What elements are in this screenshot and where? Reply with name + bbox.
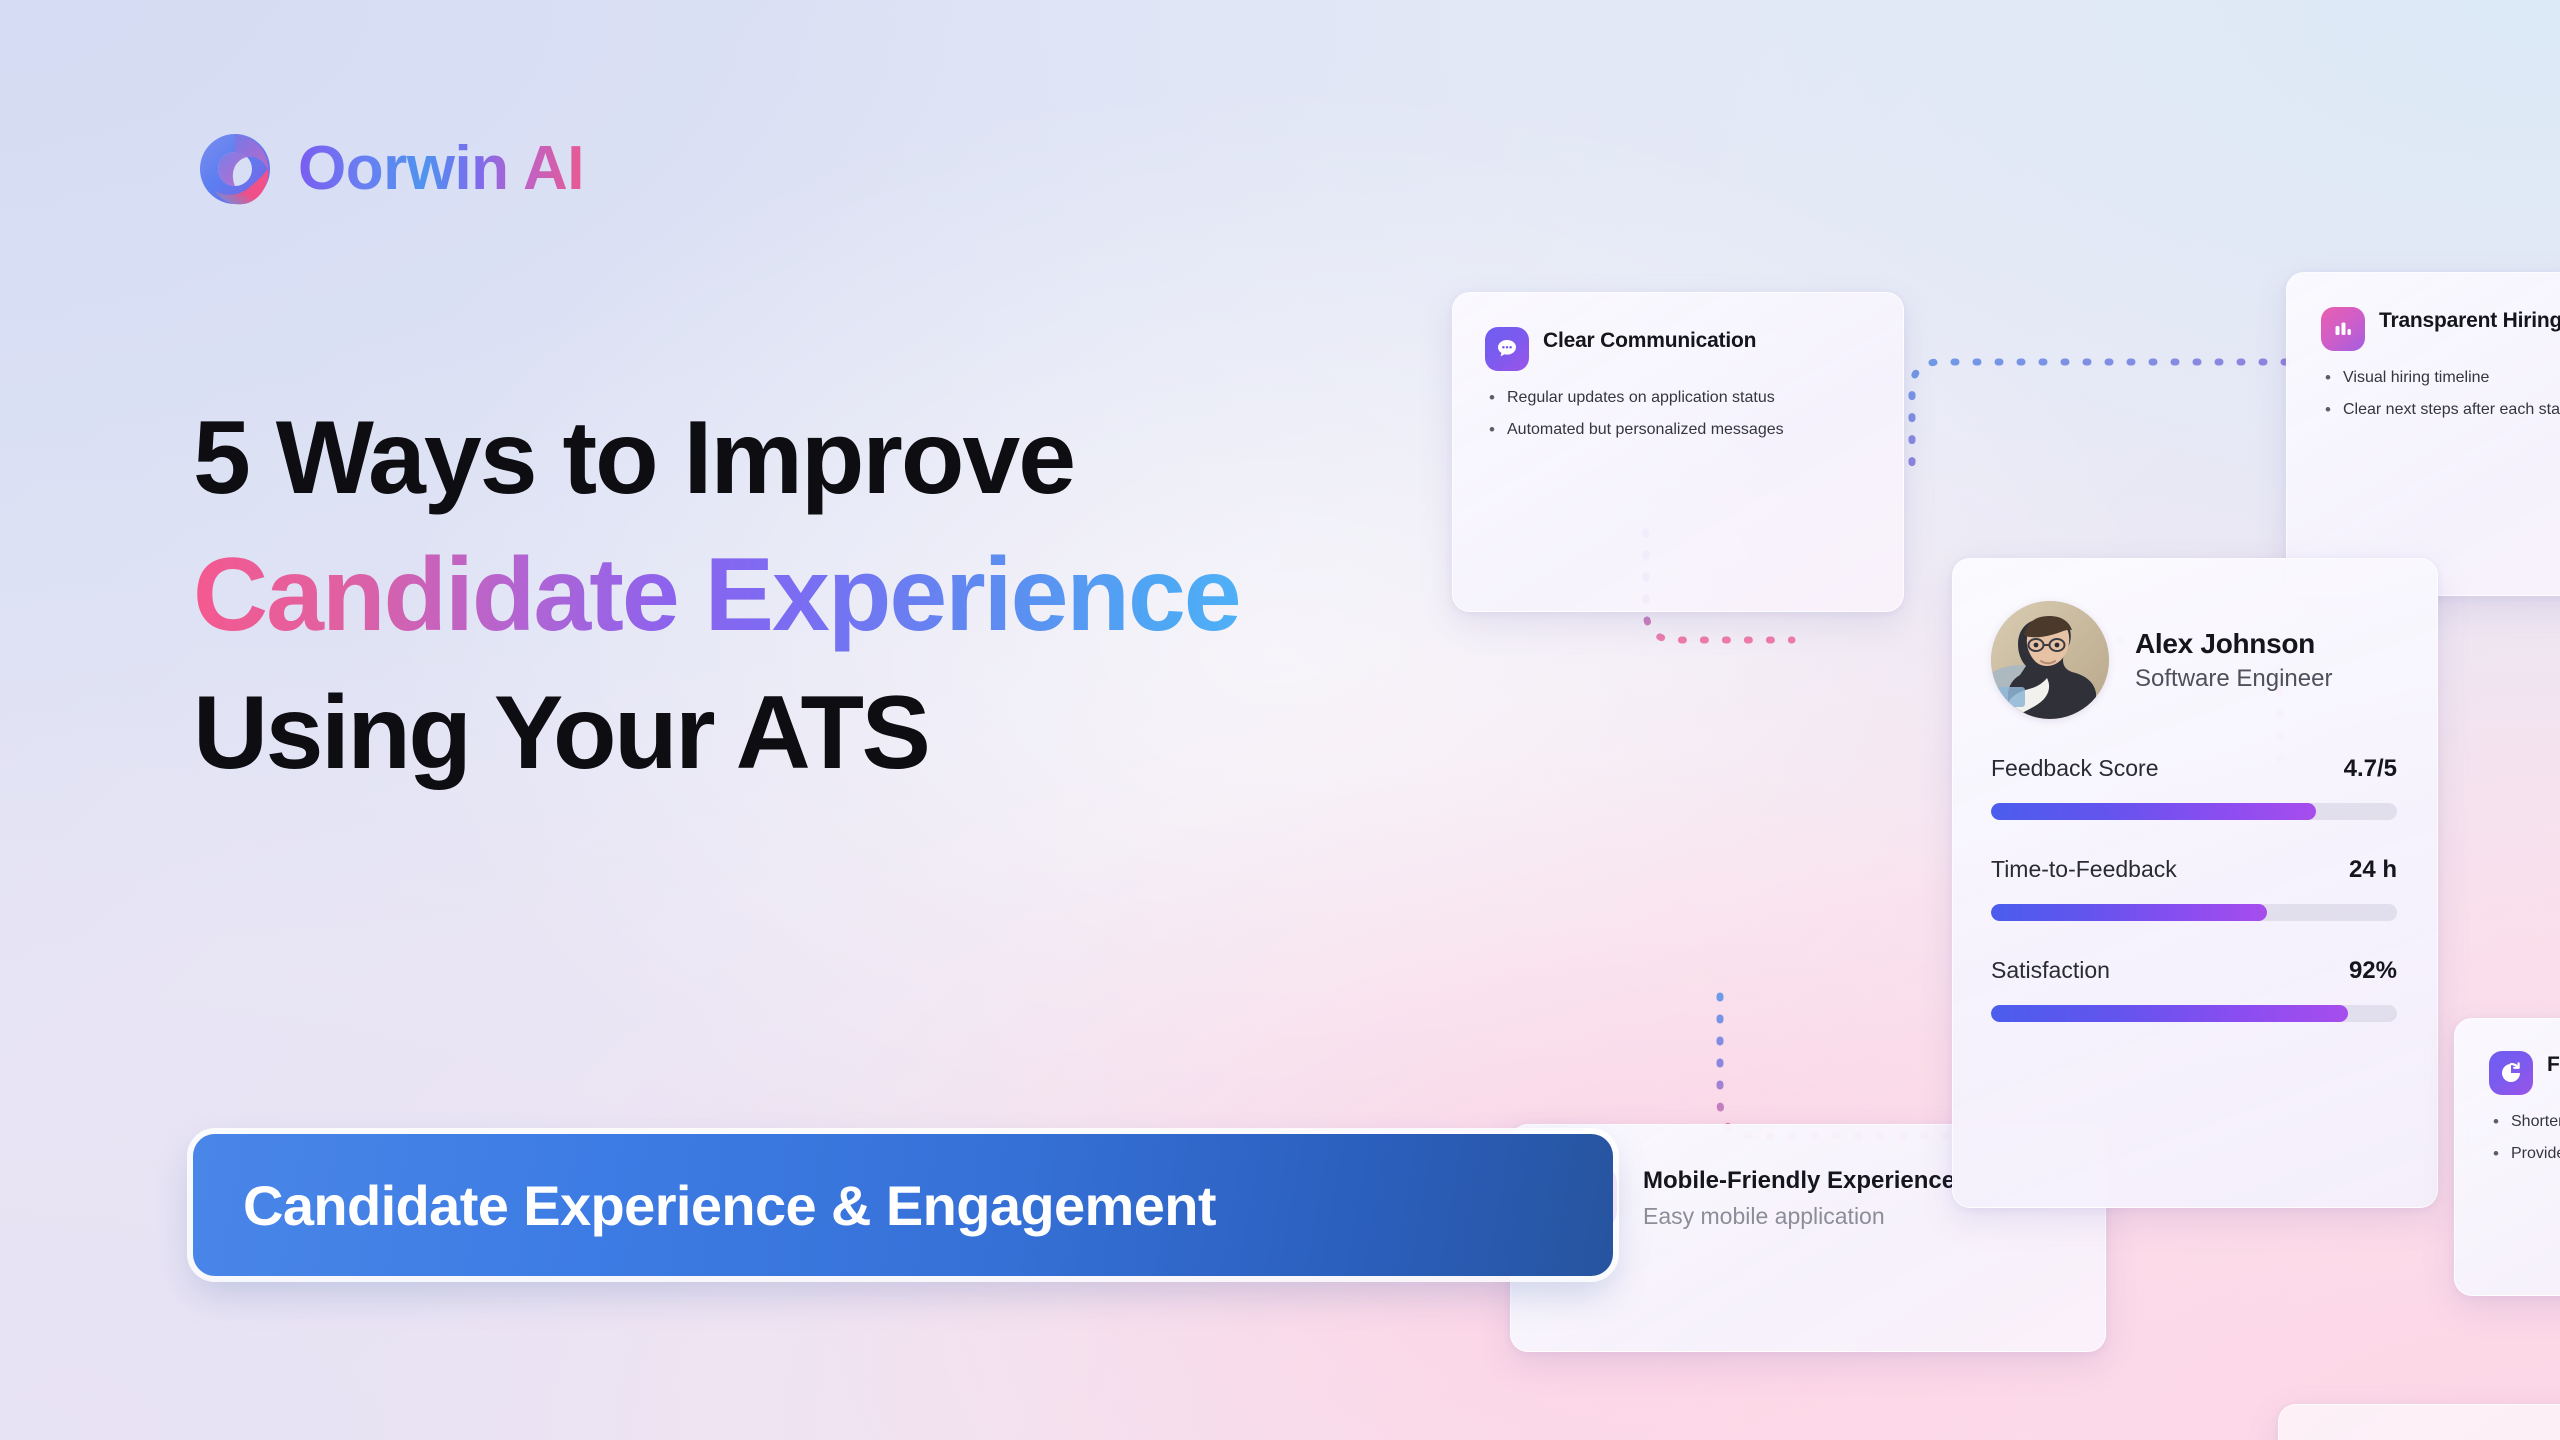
- card-bullet-list: Visual hiring timeline Clear next steps …: [2321, 367, 2560, 421]
- progress-bar: [1991, 1005, 2397, 1022]
- card-header: Transparent Hiring Stages: [2321, 307, 2560, 351]
- card-candidate-profile[interactable]: Alex Johnson Software Engineer Feedback …: [1952, 558, 2438, 1208]
- gauge-card-inner: 95% Candidate Engagement: [2279, 1405, 2560, 1440]
- metric-value: 24 h: [2349, 856, 2397, 884]
- metric-row: Satisfaction 92%: [1991, 957, 2397, 985]
- bar-chart-icon: [2321, 307, 2365, 351]
- headline-line-3: Using Your ATS: [193, 665, 1240, 802]
- card-transparent-hiring-stages[interactable]: Transparent Hiring Stages Visual hiring …: [2286, 272, 2560, 596]
- clock-icon: [2489, 1051, 2533, 1095]
- metric-value: 92%: [2349, 957, 2397, 985]
- metric-value: 4.7/5: [2344, 755, 2397, 783]
- brand-name: Oorwin AI: [298, 138, 584, 200]
- card-clear-communication[interactable]: Clear Communication Regular updates on a…: [1452, 292, 1904, 612]
- metric-feedback-score: Feedback Score 4.7/5: [1991, 755, 2397, 820]
- list-item: Visual hiring timeline: [2321, 367, 2560, 390]
- metric-row: Feedback Score 4.7/5: [1991, 755, 2397, 783]
- list-item: Automated but personalized messages: [1485, 419, 1869, 442]
- candidate-name: Alex Johnson: [2135, 628, 2332, 660]
- metric-time-to-feedback: Time-to-Feedback 24 h: [1991, 856, 2397, 921]
- cta-banner[interactable]: Candidate Experience & Engagement: [193, 1134, 1613, 1276]
- list-item: Shorten response times: [2489, 1111, 2560, 1134]
- metric-satisfaction: Satisfaction 92%: [1991, 957, 2397, 1022]
- card-title: Transparent Hiring Stages: [2379, 307, 2560, 334]
- avatar: [1991, 601, 2109, 719]
- mobile-card-text: Mobile-Friendly Experience Easy mobile a…: [1643, 1165, 1955, 1230]
- metric-label: Feedback Score: [1991, 755, 2158, 782]
- card-header: Faster Feedback: [2489, 1051, 2560, 1095]
- chat-bubble-icon: [1485, 327, 1529, 371]
- metric-label: Satisfaction: [1991, 957, 2110, 984]
- headline-line-1: 5 Ways to Improve: [193, 390, 1240, 527]
- candidate-role: Software Engineer: [2135, 665, 2332, 693]
- metric-label: Time-to-Feedback: [1991, 856, 2177, 883]
- progress-bar: [1991, 904, 2397, 921]
- page-title: 5 Ways to Improve Candidate Experience U…: [193, 390, 1240, 802]
- card-bullet-list: Regular updates on application status Au…: [1485, 387, 1869, 441]
- progress-bar: [1991, 803, 2397, 820]
- metric-row: Time-to-Feedback 24 h: [1991, 856, 2397, 884]
- list-item: Clear next steps after each stage: [2321, 399, 2560, 422]
- list-item: Regular updates on application status: [1485, 387, 1869, 410]
- card-title: Faster Feedback: [2547, 1051, 2560, 1078]
- candidate-identity: Alex Johnson Software Engineer: [1991, 601, 2397, 719]
- infographic-cluster: Clear Communication Regular updates on a…: [1440, 240, 2500, 1160]
- cta-label: Candidate Experience & Engagement: [193, 1173, 1216, 1238]
- card-faster-feedback[interactable]: Faster Feedback Shorten response times P…: [2454, 1018, 2560, 1296]
- candidate-text: Alex Johnson Software Engineer: [2135, 628, 2332, 693]
- card-candidate-engagement[interactable]: 95% Candidate Engagement: [2278, 1404, 2560, 1440]
- oorwin-swirl-logo-icon: [196, 130, 274, 208]
- card-header: Clear Communication: [1485, 327, 1869, 371]
- list-item: Provide actionable feedback after interv…: [2489, 1143, 2560, 1166]
- card-subtitle: Easy mobile application: [1643, 1203, 1955, 1230]
- card-title: Clear Communication: [1543, 327, 1756, 354]
- card-bullet-list: Shorten response times Provide actionabl…: [2489, 1111, 2560, 1165]
- headline-line-2-gradient: Candidate Experience: [193, 527, 1240, 664]
- card-title: Mobile-Friendly Experience: [1643, 1165, 1955, 1196]
- brand-logo[interactable]: Oorwin AI: [196, 130, 584, 208]
